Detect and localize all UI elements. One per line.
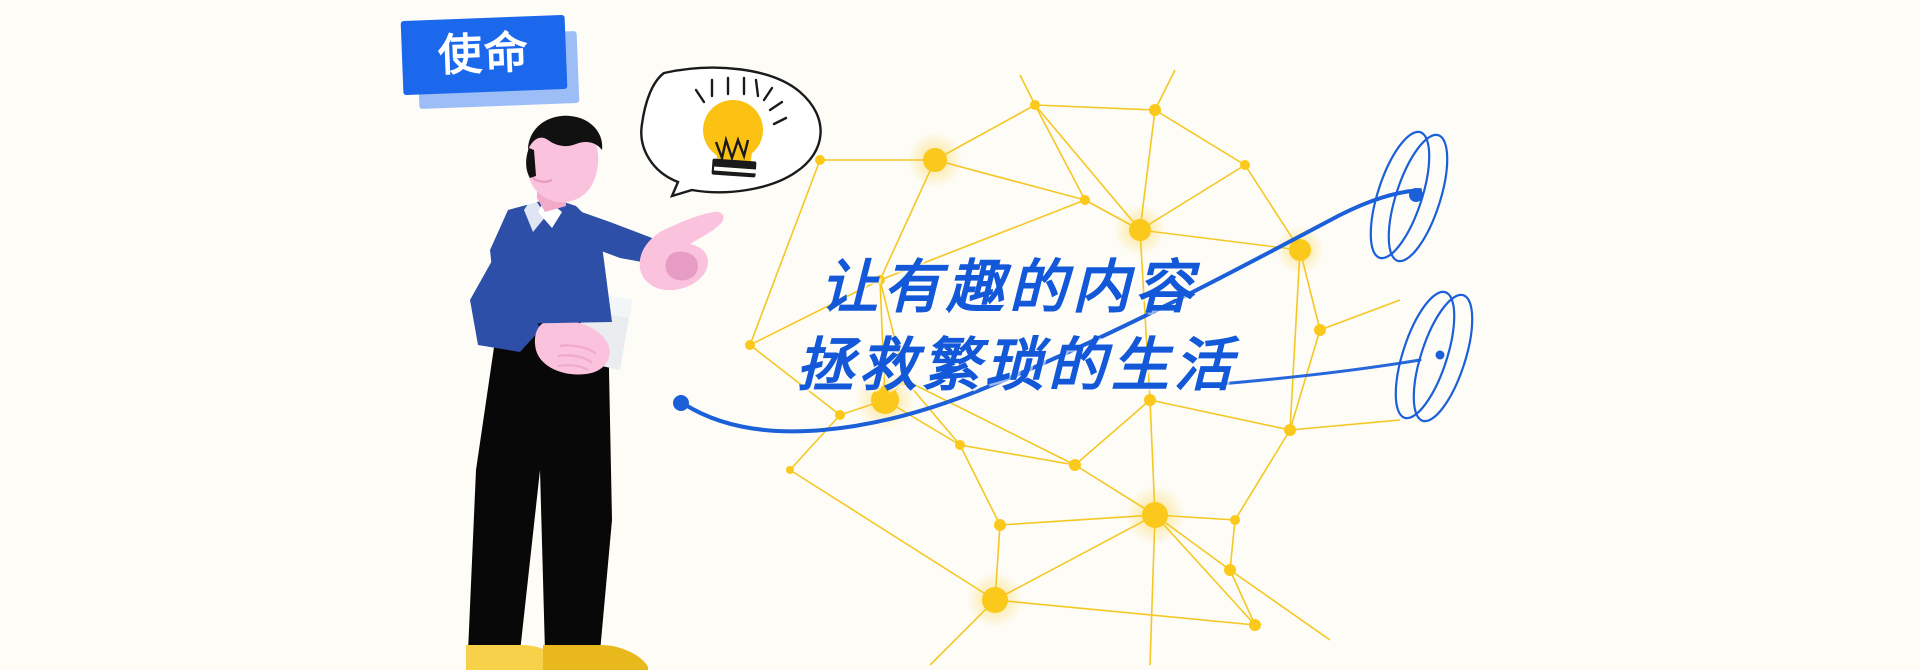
banner-canvas: 使命 让有趣的内容 拯救繁琐的生活 <box>0 0 1920 670</box>
idea-speech-bubble <box>0 0 1920 670</box>
bubble-svg <box>0 0 1920 670</box>
